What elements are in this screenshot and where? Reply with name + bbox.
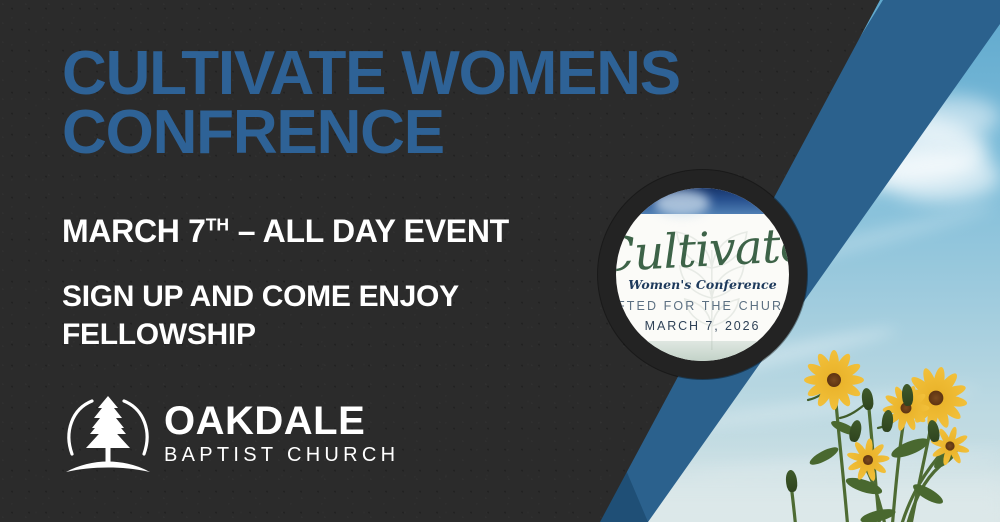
badge-date: MARCH 7, 2026 [645,319,761,333]
event-date-day: MARCH 7 [62,213,206,249]
badge-tagline: GIFTED FOR THE CHURCH [616,299,789,313]
event-banner: CULTIVATE WOMENS CONFRENCE MARCH 7TH – A… [0,0,1000,522]
event-date-line: MARCH 7TH – ALL DAY EVENT [62,213,509,250]
logo-name-primary: OAKDALE [164,401,399,441]
badge-face: Cultivate Women's Conference GIFTED FOR … [616,188,789,361]
badge-script-title: Cultivate [616,221,789,279]
badge-content: Cultivate Women's Conference GIFTED FOR … [616,188,789,361]
call-to-action-text: SIGN UP AND COME ENJOY FELLOWSHIP [62,278,582,355]
page-title: CULTIVATE WOMENS CONFRENCE [62,45,702,163]
church-logo: OAKDALE BAPTIST CHURCH [62,392,399,478]
ordinal-suffix: TH [206,214,229,234]
logo-name-secondary: BAPTIST CHURCH [164,445,399,465]
logo-wordmark: OAKDALE BAPTIST CHURCH [164,401,399,469]
tree-cross-icon [62,392,154,478]
conference-badge: Cultivate Women's Conference GIFTED FOR … [598,170,807,379]
event-date-rest: – ALL DAY EVENT [229,213,509,249]
